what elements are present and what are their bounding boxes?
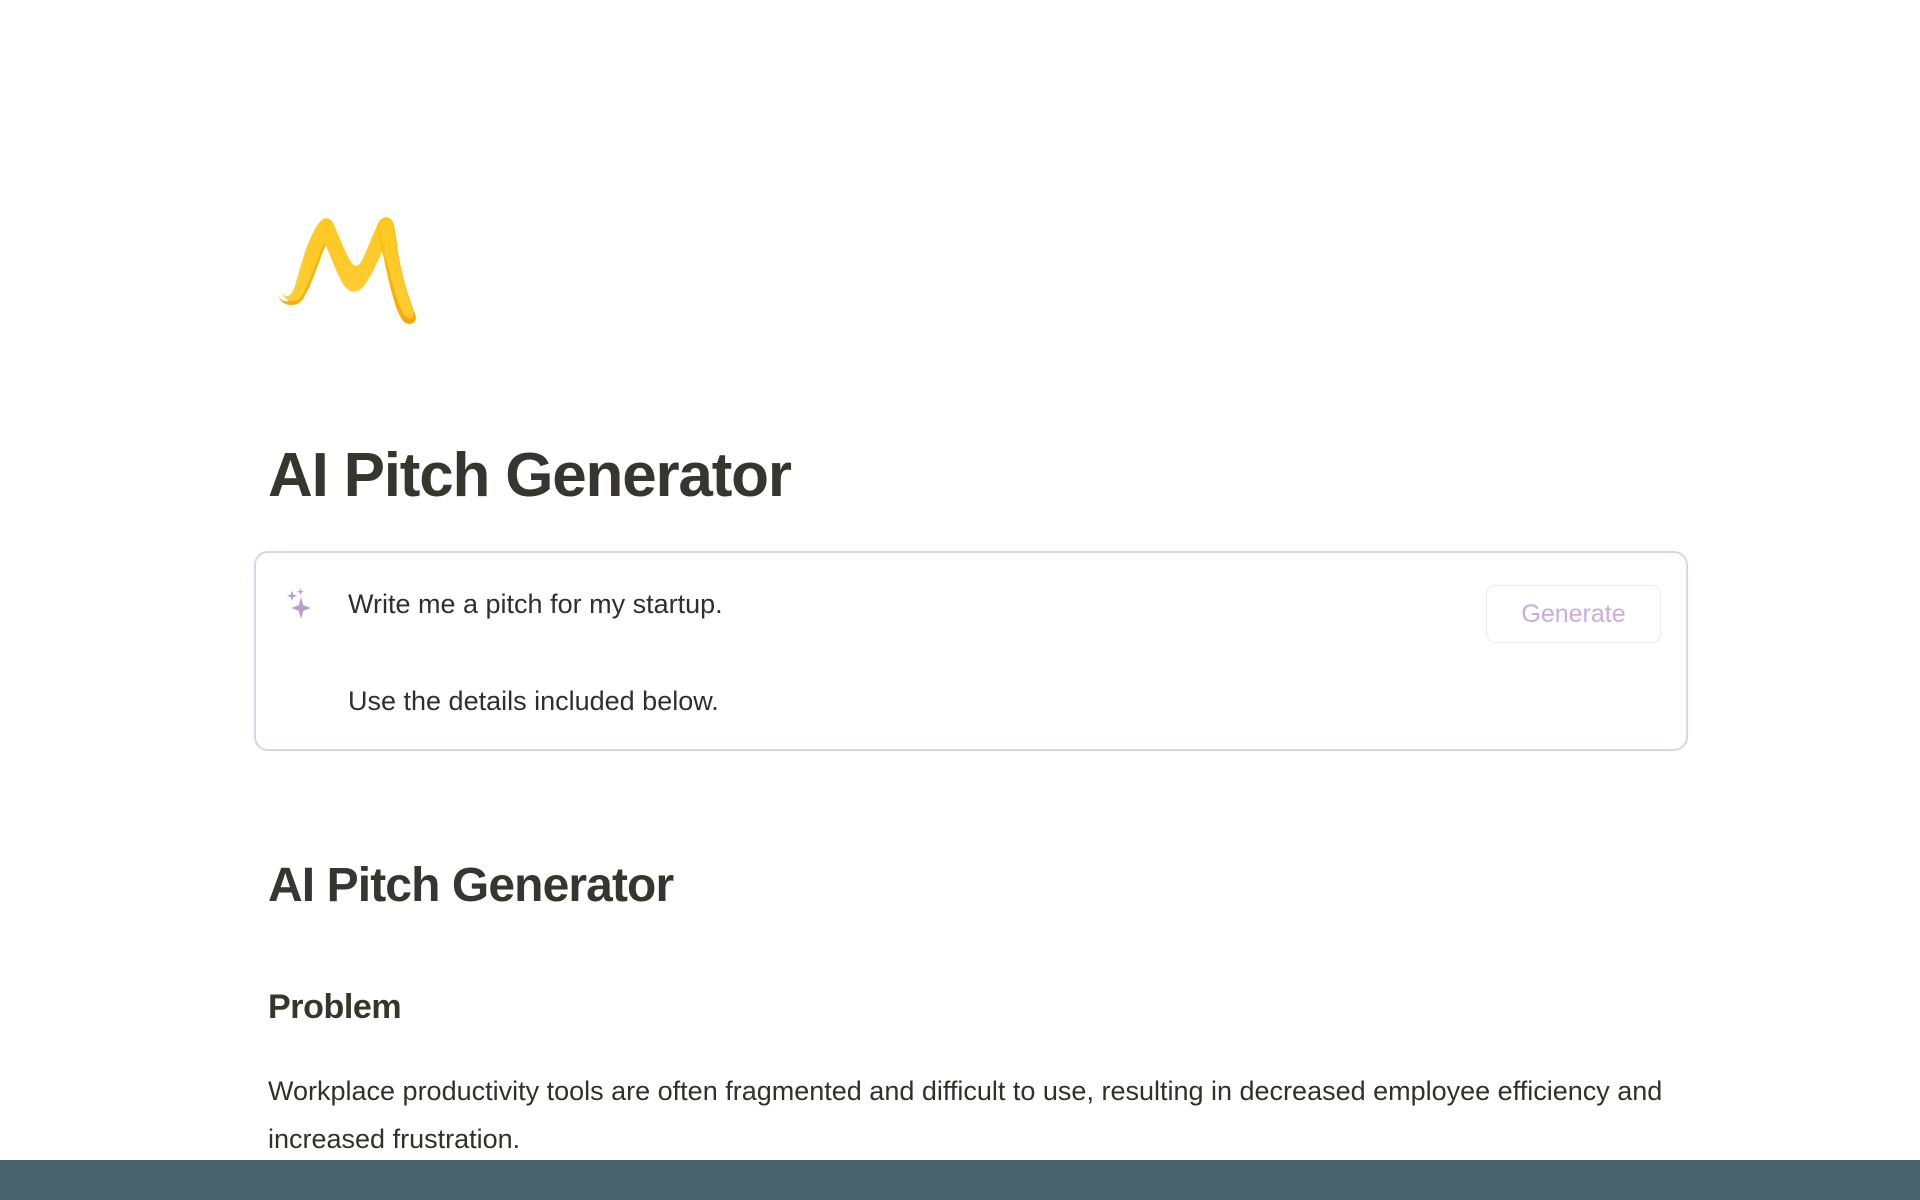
prompt-text-line-2[interactable]: Use the details included below.: [348, 683, 719, 719]
sparkle-icon: [283, 586, 319, 622]
bottom-status-bar: [0, 1160, 1920, 1200]
generate-button[interactable]: Generate: [1486, 585, 1661, 643]
page-root: AI Pitch Generator Write me a pitch for …: [0, 0, 1920, 1200]
prompt-first-row: Write me a pitch for my startup. Generat…: [256, 553, 1686, 653]
section-body-problem: Workplace productivity tools are often f…: [268, 1067, 1668, 1163]
page-title: AI Pitch Generator: [268, 440, 791, 512]
document-title: AI Pitch Generator: [268, 857, 673, 915]
section-heading-problem: Problem: [268, 986, 401, 1028]
prompt-text-line-1[interactable]: Write me a pitch for my startup.: [348, 586, 723, 622]
app-logo: [268, 196, 428, 326]
prompt-card[interactable]: Write me a pitch for my startup. Generat…: [254, 551, 1688, 751]
